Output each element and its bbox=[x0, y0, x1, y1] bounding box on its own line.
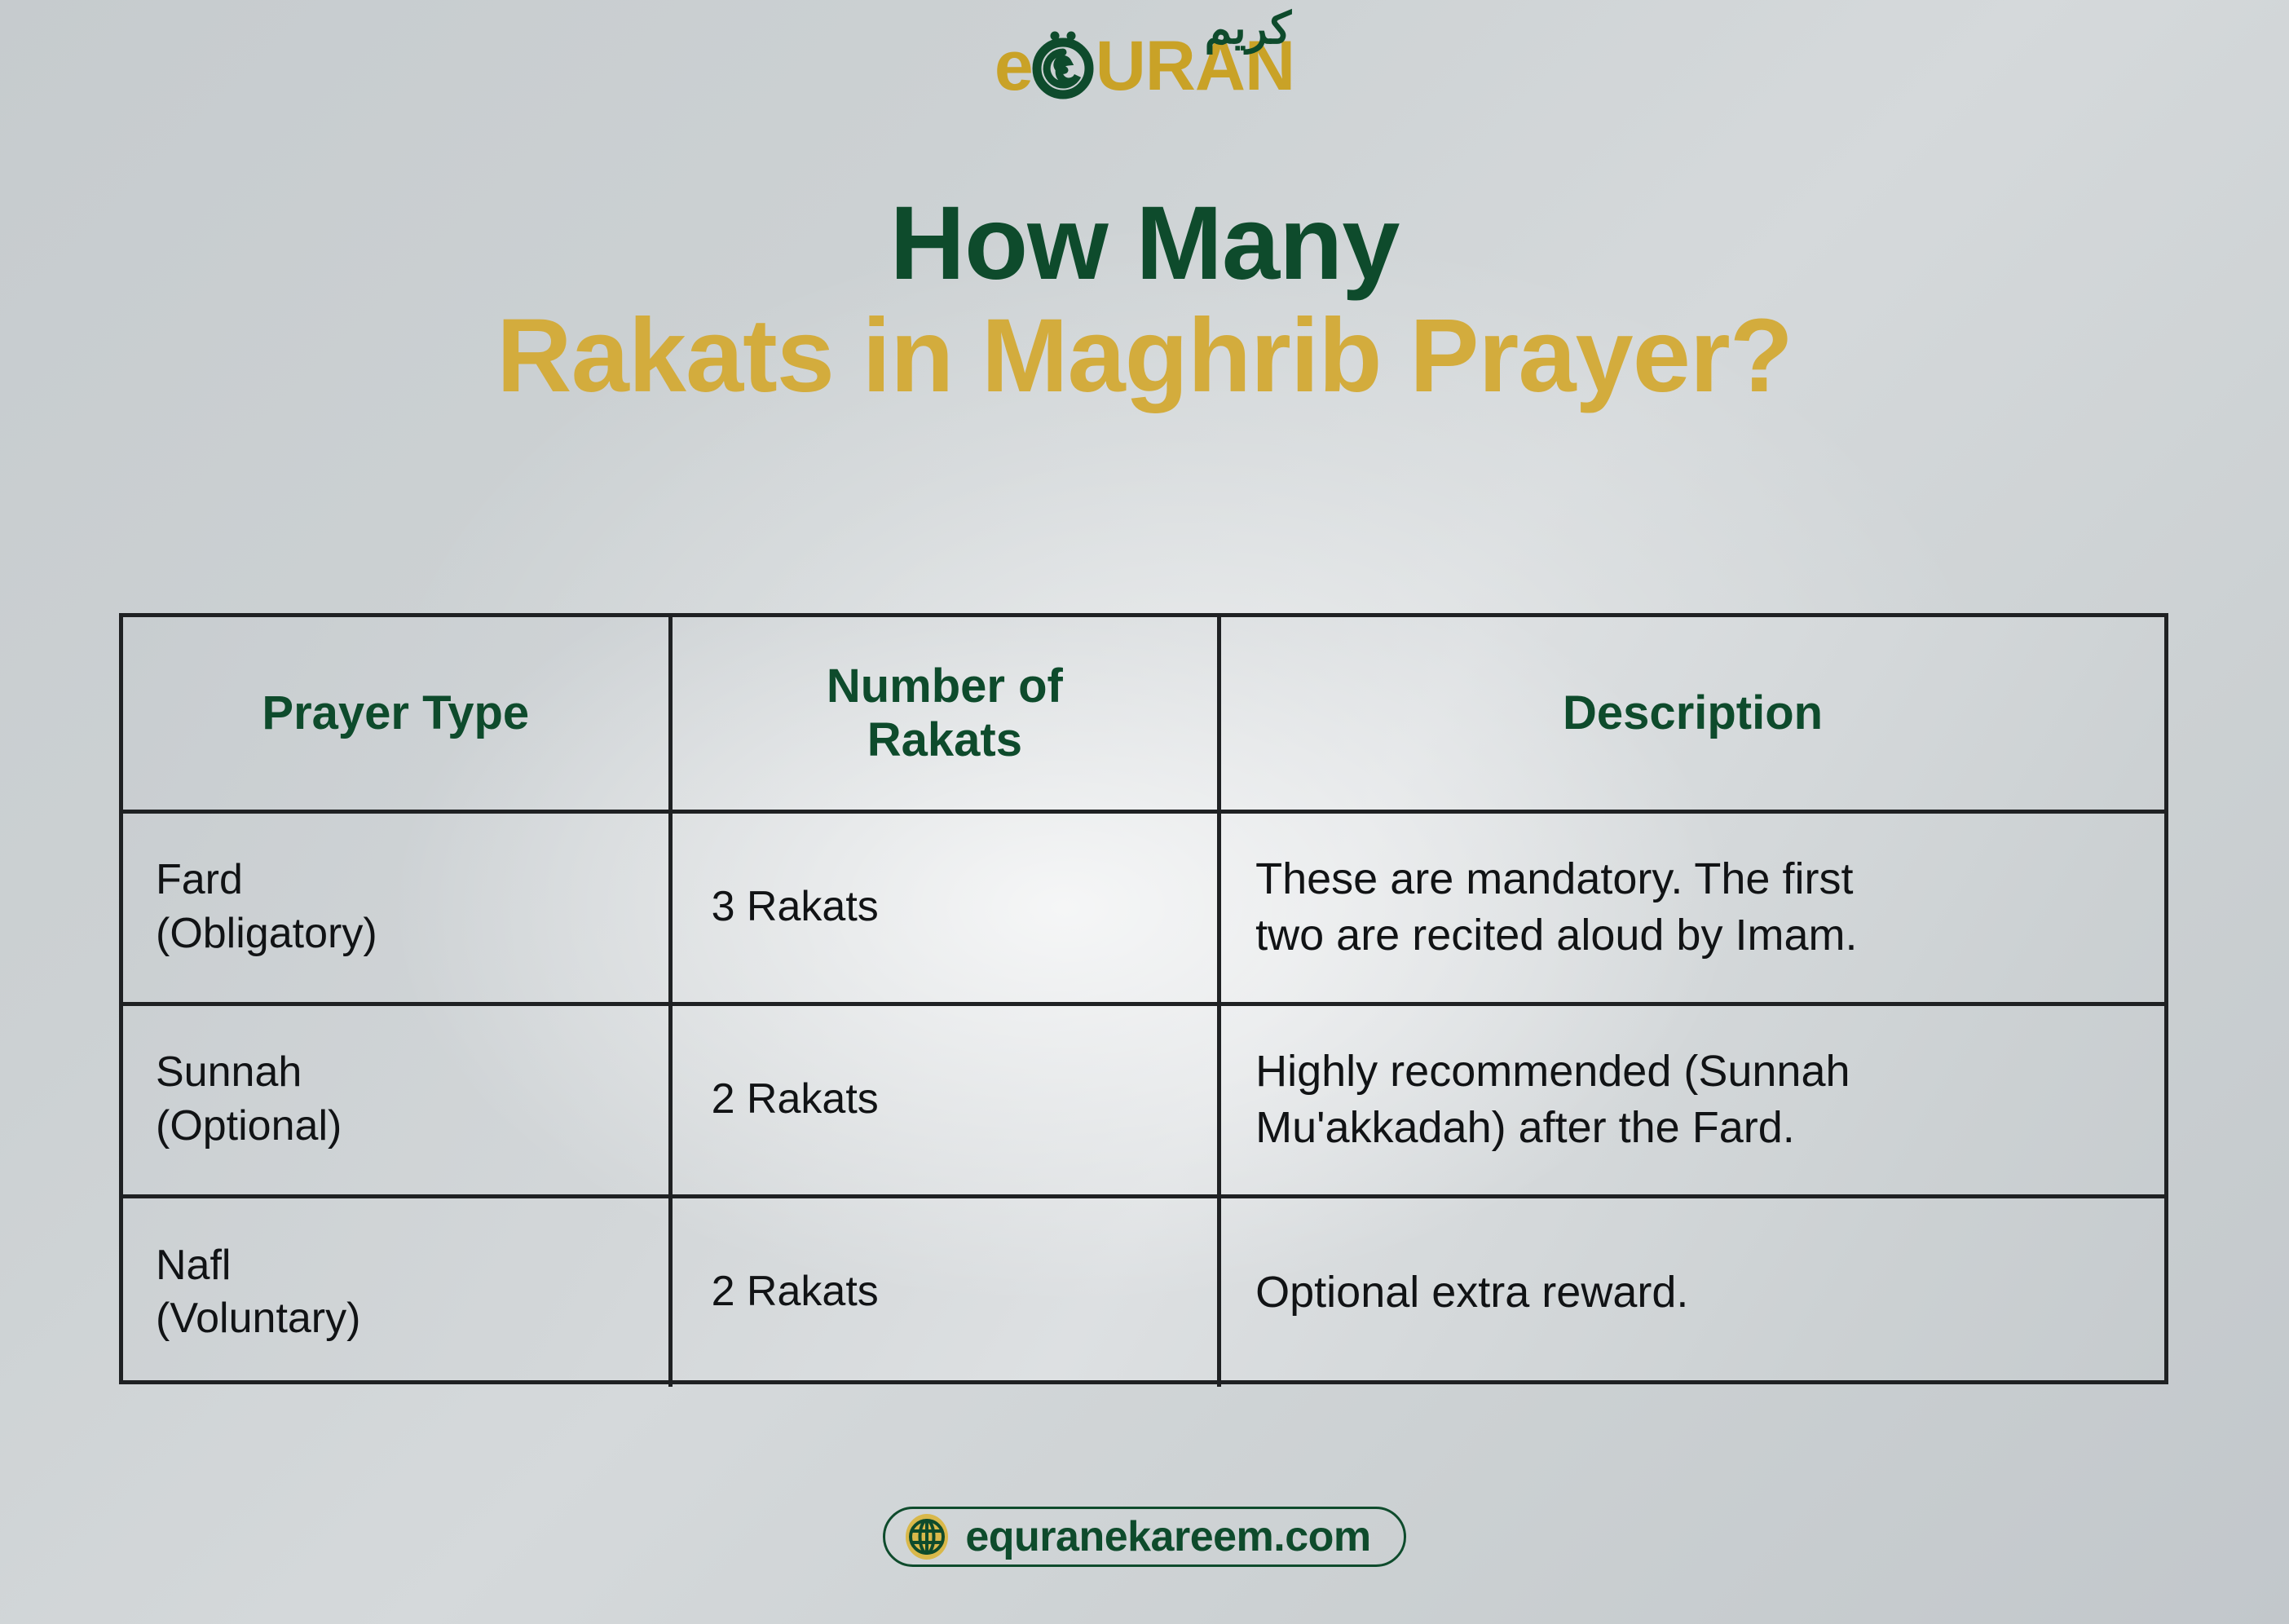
page-title: How Many Rakats in Maghrib Prayer? bbox=[0, 189, 2289, 414]
prayer-type-line2: (Voluntary) bbox=[156, 1292, 668, 1346]
column-header-prayer-type: Prayer Type bbox=[123, 617, 670, 811]
cell-rakats-count: 3 Rakats bbox=[670, 811, 1219, 1004]
rakats-table-element: Prayer Type Number of Rakats Description… bbox=[123, 617, 2164, 1387]
cell-prayer-type: Sunnah (Optional) bbox=[123, 1004, 670, 1196]
table-body: Fard (Obligatory) 3 Rakats These are man… bbox=[123, 811, 2164, 1387]
cell-description: Optional extra reward. bbox=[1219, 1196, 2164, 1387]
cell-rakats-count: 2 Rakats bbox=[670, 1196, 1219, 1387]
prayer-type-line2: (Optional) bbox=[156, 1100, 668, 1154]
prayer-type-line1: Nafl bbox=[156, 1239, 668, 1293]
column-header-number-of-rakats: Number of Rakats bbox=[670, 617, 1219, 811]
column-header-description: Description bbox=[1219, 617, 2164, 811]
title-line-2: Rakats in Maghrib Prayer? bbox=[0, 298, 2289, 414]
description-line1: These are mandatory. The first bbox=[1255, 851, 2135, 907]
table-row: Nafl (Voluntary) 2 Rakats Optional extra… bbox=[123, 1196, 2164, 1387]
prayer-type-line1: Sunnah bbox=[156, 1046, 668, 1100]
column-header-number-of-rakats-line2: Rakats bbox=[867, 713, 1022, 766]
website-url[interactable]: equranekareem.com bbox=[965, 1516, 1370, 1558]
cell-prayer-type: Nafl (Voluntary) bbox=[123, 1196, 670, 1387]
description-line2: Mu'akkadah) after the Fard. bbox=[1255, 1100, 2135, 1156]
cell-prayer-type: Fard (Obligatory) bbox=[123, 811, 670, 1004]
logo-wrap: e URAN كريم bbox=[995, 10, 1294, 96]
table-row: Fard (Obligatory) 3 Rakats These are man… bbox=[123, 811, 2164, 1004]
cell-description: Highly recommended (Sunnah Mu'akkadah) a… bbox=[1219, 1004, 2164, 1196]
column-header-number-of-rakats-line1: Number of bbox=[827, 660, 1063, 713]
footer: equranekareem.com bbox=[0, 1507, 2289, 1567]
table-header: Prayer Type Number of Rakats Description bbox=[123, 617, 2164, 811]
title-line-1: How Many bbox=[0, 189, 2289, 298]
prayer-type-line2: (Obligatory) bbox=[156, 907, 668, 961]
rakats-table: Prayer Type Number of Rakats Description… bbox=[119, 613, 2168, 1384]
description-line1: Optional extra reward. bbox=[1255, 1264, 2135, 1321]
description-line1: Highly recommended (Sunnah bbox=[1255, 1044, 2135, 1100]
cell-description: These are mandatory. The first two are r… bbox=[1219, 811, 2164, 1004]
brand-logo: e URAN كريم bbox=[0, 7, 2289, 96]
table-row: Sunnah (Optional) 2 Rakats Highly recomm… bbox=[123, 1004, 2164, 1196]
website-badge[interactable]: equranekareem.com bbox=[883, 1507, 1405, 1567]
prayer-type-line1: Fard bbox=[156, 854, 668, 907]
logo-arabic-kareem: كريم bbox=[1205, 7, 1291, 51]
table-header-row: Prayer Type Number of Rakats Description bbox=[123, 617, 2164, 811]
description-line2: two are recited aloud by Imam. bbox=[1255, 907, 2135, 964]
logo-letter-q-ornament bbox=[1027, 18, 1099, 96]
cell-rakats-count: 2 Rakats bbox=[670, 1004, 1219, 1196]
globe-icon bbox=[903, 1513, 950, 1560]
